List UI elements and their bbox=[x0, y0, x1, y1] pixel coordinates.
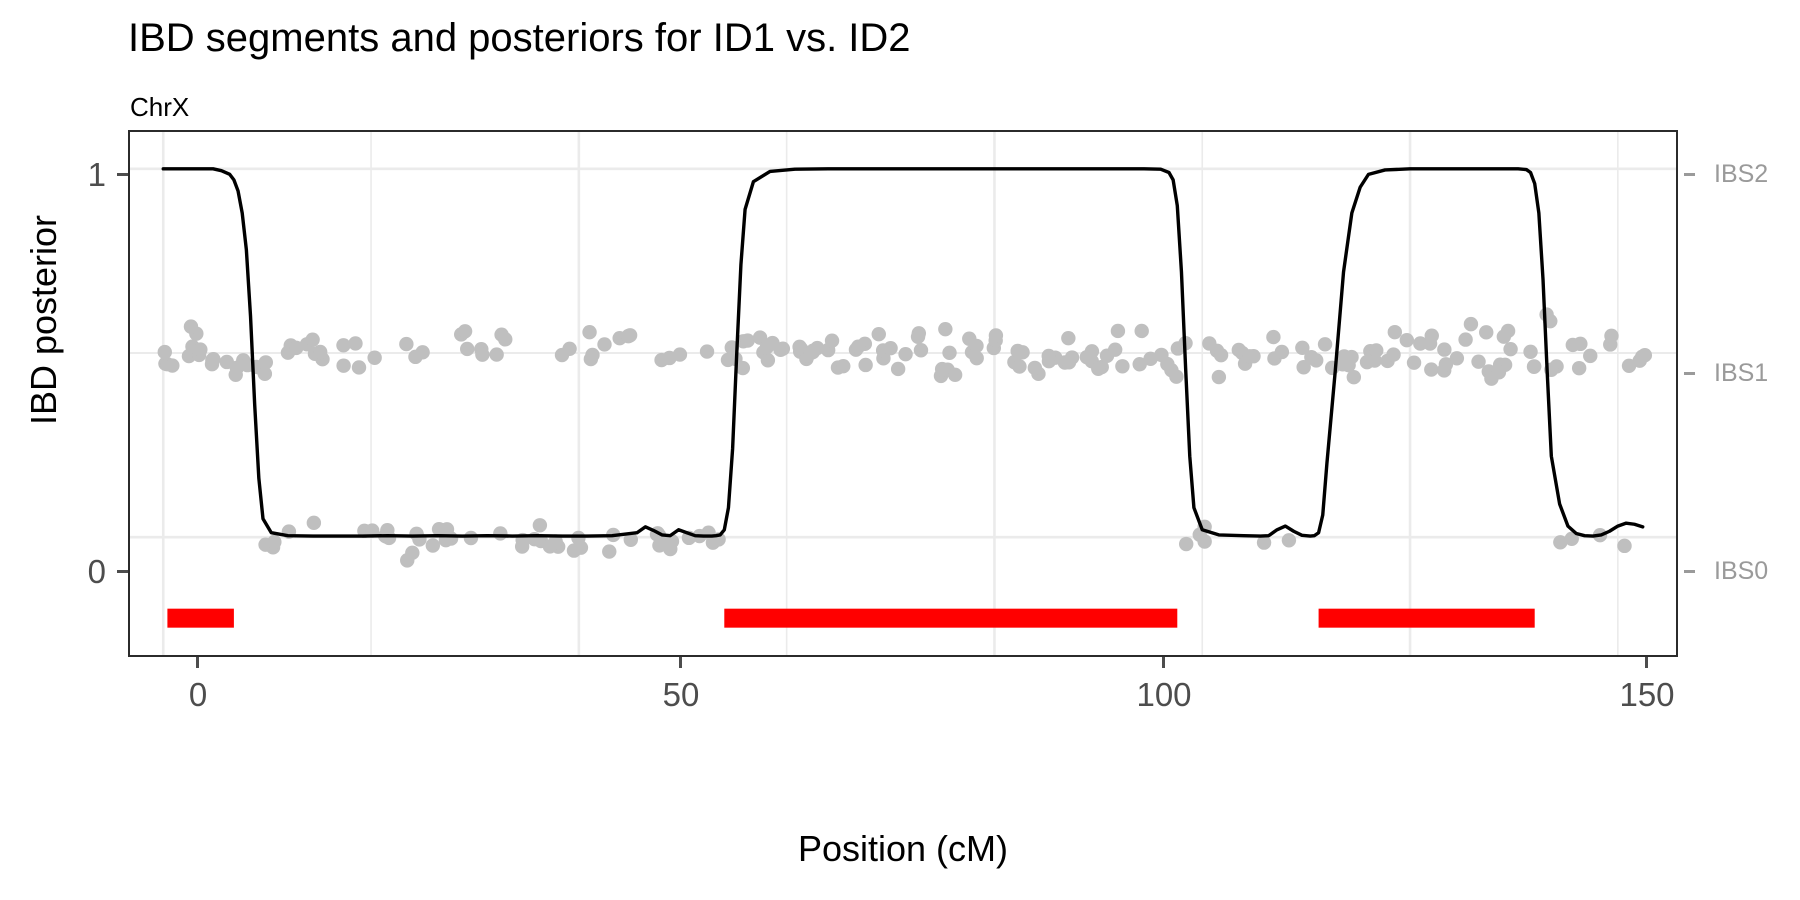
ibs-point bbox=[1266, 330, 1280, 344]
ibs-point bbox=[555, 348, 569, 362]
ibs-point bbox=[1347, 370, 1361, 384]
ibd-segment-bar-3 bbox=[1319, 609, 1535, 628]
ibs-point bbox=[1085, 344, 1099, 358]
ibs-point bbox=[543, 539, 557, 553]
ibs-point bbox=[348, 336, 362, 350]
ibs-point bbox=[1527, 359, 1541, 373]
ibs-point bbox=[872, 327, 886, 341]
ibs-point bbox=[305, 332, 319, 346]
ibs-point bbox=[942, 346, 956, 360]
ibs-point bbox=[1197, 534, 1211, 548]
ibs-point bbox=[258, 367, 272, 381]
ibs-point bbox=[1407, 355, 1421, 369]
ibs-point bbox=[158, 345, 172, 359]
x-tick-label-100: 100 bbox=[1136, 678, 1191, 711]
ibs-point bbox=[1369, 343, 1383, 357]
ibs-point bbox=[1450, 351, 1464, 365]
secondary-tick-ibs1 bbox=[1684, 372, 1695, 375]
ibs-point bbox=[883, 341, 897, 355]
ibs-point bbox=[948, 368, 962, 382]
ibs-point bbox=[267, 535, 281, 549]
ibs-point bbox=[193, 342, 207, 356]
ibs-point bbox=[891, 362, 905, 376]
ibs-point bbox=[1484, 371, 1498, 385]
ibs-point bbox=[1028, 361, 1042, 375]
ibs-point bbox=[1042, 349, 1056, 363]
y-tick-mark-0 bbox=[117, 570, 128, 573]
ibs-point bbox=[663, 542, 677, 556]
ibs-point bbox=[1214, 348, 1228, 362]
ibs-point bbox=[400, 553, 414, 567]
ibd-segment-bar-2 bbox=[724, 609, 1177, 628]
ibs-point bbox=[1622, 359, 1636, 373]
ibs-point bbox=[1497, 329, 1511, 343]
ibs-point bbox=[597, 337, 611, 351]
ibs-point bbox=[165, 358, 179, 372]
ibs-point bbox=[1503, 342, 1517, 356]
ibs-point bbox=[184, 319, 198, 333]
ibs-point bbox=[399, 337, 413, 351]
ibs-point bbox=[460, 342, 474, 356]
ibs-point bbox=[206, 352, 220, 366]
ibs-point bbox=[740, 333, 754, 347]
ibs-point bbox=[1464, 317, 1478, 331]
ibs-point bbox=[1318, 337, 1332, 351]
secondary-label-ibs2: IBS2 bbox=[1714, 162, 1768, 187]
ibs-point bbox=[1275, 345, 1289, 359]
ibs-point bbox=[621, 329, 635, 343]
ibs-point bbox=[1212, 370, 1226, 384]
ibs-point bbox=[1635, 350, 1649, 364]
ibs-scatter-points bbox=[158, 307, 1652, 567]
ibd-segment-bars bbox=[167, 609, 1534, 628]
ibs-point bbox=[515, 539, 529, 553]
x-tick-mark-100 bbox=[1162, 657, 1165, 668]
ibs-point bbox=[1304, 350, 1318, 364]
ibs-point bbox=[426, 538, 440, 552]
ibs-point bbox=[1583, 349, 1597, 363]
ibs-point bbox=[1539, 307, 1553, 321]
ibs-point bbox=[1573, 337, 1587, 351]
ibs-point bbox=[761, 353, 775, 367]
y-tick-label-0: 0 bbox=[88, 555, 106, 588]
ibs-point bbox=[1111, 324, 1125, 338]
ibs-point bbox=[776, 342, 790, 356]
ibs-point bbox=[1344, 350, 1358, 364]
ibs-point bbox=[464, 531, 478, 545]
ibs-point bbox=[989, 328, 1003, 342]
ibs-point bbox=[336, 338, 350, 352]
ibs-point bbox=[307, 516, 321, 530]
ibs-point bbox=[1425, 329, 1439, 343]
ibs-point bbox=[585, 348, 599, 362]
ibs-point bbox=[825, 334, 839, 348]
ibs-point bbox=[409, 527, 423, 541]
ibs-point bbox=[1202, 336, 1216, 350]
facet-strip-label: ChrX bbox=[130, 92, 189, 123]
secondary-label-ibs0: IBS0 bbox=[1714, 559, 1768, 584]
x-tick-mark-0 bbox=[196, 657, 199, 668]
ibs-point bbox=[1062, 355, 1076, 369]
y-tick-mark-1 bbox=[117, 173, 128, 176]
chart-root: IBD segments and posteriors for ID1 vs. … bbox=[0, 0, 1800, 900]
ibs-point bbox=[1523, 345, 1537, 359]
x-tick-label-150: 150 bbox=[1619, 678, 1674, 711]
x-tick-label-0: 0 bbox=[189, 678, 207, 711]
ibs-point bbox=[1115, 359, 1129, 373]
ibs-point bbox=[1572, 361, 1586, 375]
ibs-point bbox=[1388, 325, 1402, 339]
y-axis-title: IBD posterior bbox=[14, 0, 74, 700]
secondary-tick-ibs0 bbox=[1684, 570, 1695, 573]
x-tick-label-50: 50 bbox=[663, 678, 700, 711]
ibs-point bbox=[851, 339, 865, 353]
ibs-point bbox=[336, 358, 350, 372]
ibs-point bbox=[489, 347, 503, 361]
plot-panel bbox=[128, 130, 1678, 657]
ibs-point bbox=[673, 347, 687, 361]
ibs-point bbox=[458, 324, 472, 338]
ibs-point bbox=[352, 360, 366, 374]
ibs-point bbox=[1179, 537, 1193, 551]
ibs-point bbox=[1282, 533, 1296, 547]
ibs-point bbox=[1386, 347, 1400, 361]
secondary-tick-ibs2 bbox=[1684, 173, 1695, 176]
ibs-point bbox=[475, 347, 489, 361]
ibs-point bbox=[938, 322, 952, 336]
ibs-point bbox=[567, 543, 581, 557]
ibs-point bbox=[1360, 355, 1374, 369]
ibs-point bbox=[1617, 539, 1631, 553]
ibs-point bbox=[498, 332, 512, 346]
y-tick-label-1: 1 bbox=[88, 158, 106, 191]
gridlines bbox=[130, 132, 1676, 655]
ibd-segment-bar-1 bbox=[167, 609, 233, 628]
ibs-point bbox=[911, 330, 925, 344]
ibs-point bbox=[1437, 342, 1451, 356]
ibs-point bbox=[654, 353, 668, 367]
ibs-point bbox=[898, 347, 912, 361]
x-axis-title: Position (cM) bbox=[128, 828, 1678, 870]
ibs-point bbox=[1400, 333, 1414, 347]
ibs-point bbox=[1458, 332, 1472, 346]
ibs-point bbox=[533, 518, 547, 532]
x-tick-mark-150 bbox=[1645, 657, 1648, 668]
ibs-point bbox=[858, 358, 872, 372]
ibs-point bbox=[367, 351, 381, 365]
ibs-point bbox=[582, 325, 596, 339]
ibs-point bbox=[1479, 325, 1493, 339]
ibs-point bbox=[1135, 324, 1149, 338]
plot-canvas bbox=[130, 132, 1676, 655]
x-tick-mark-50 bbox=[679, 657, 682, 668]
ibs-point bbox=[836, 359, 850, 373]
ibs-point bbox=[1061, 331, 1075, 345]
ibs-point bbox=[914, 343, 928, 357]
ibs-point bbox=[1246, 349, 1260, 363]
ibs-point bbox=[602, 544, 616, 558]
page-title: IBD segments and posteriors for ID1 vs. … bbox=[128, 16, 911, 61]
ibs-point bbox=[700, 344, 714, 358]
secondary-label-ibs1: IBS1 bbox=[1714, 361, 1768, 386]
ibs-point bbox=[1604, 329, 1618, 343]
ibs-point bbox=[1091, 362, 1105, 376]
ibs-point bbox=[1012, 359, 1026, 373]
ibs-point bbox=[760, 340, 774, 354]
ibs-point bbox=[1015, 345, 1029, 359]
ibs-point bbox=[1424, 362, 1438, 376]
ibs-point bbox=[969, 339, 983, 353]
ibs-point bbox=[408, 350, 422, 364]
ibs-point bbox=[493, 526, 507, 540]
ibs-point bbox=[1108, 342, 1122, 356]
ibs-point bbox=[313, 345, 327, 359]
ibs-point bbox=[1169, 369, 1183, 383]
